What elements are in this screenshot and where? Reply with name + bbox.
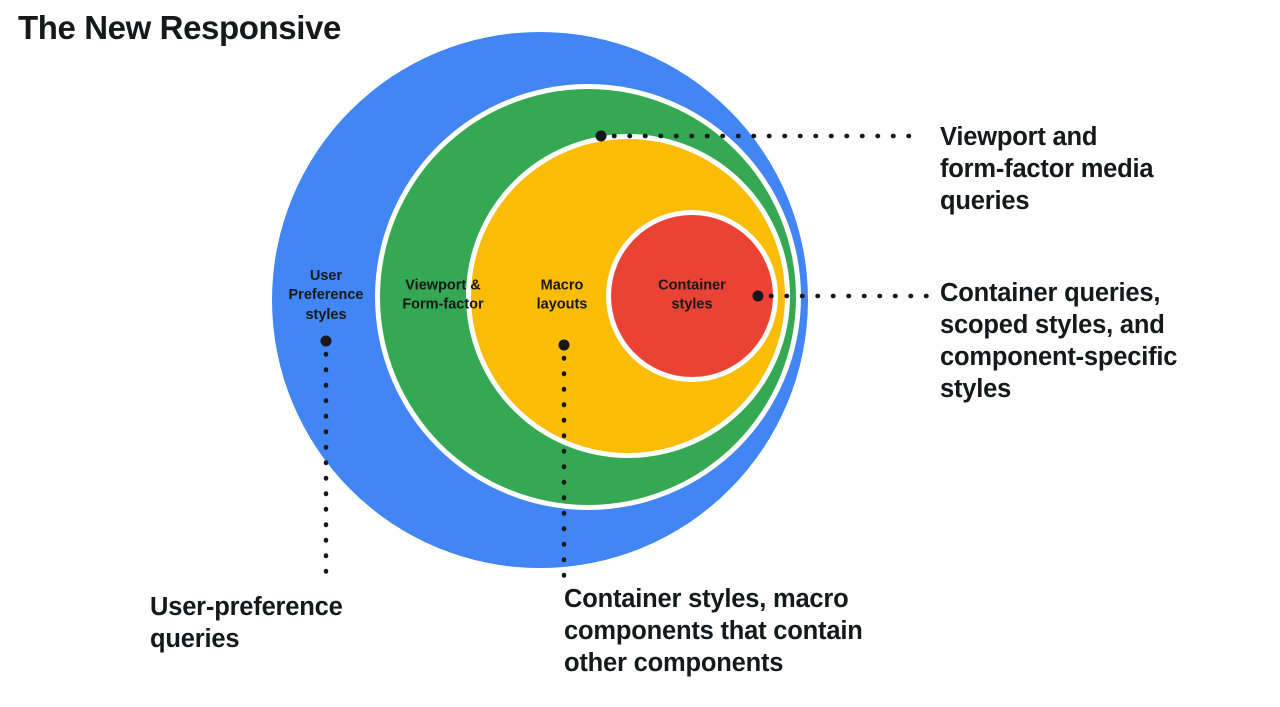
connector-dot-viewport — [596, 131, 607, 142]
connector-dot-macro — [559, 340, 570, 351]
connector-dot-container-queries — [753, 291, 764, 302]
diagram-canvas: The New Responsive User Preference style… — [0, 0, 1280, 707]
ring-container-styles[interactable] — [611, 215, 773, 377]
callout-macro-container-styles: Container styles, macro components that … — [564, 584, 994, 680]
callout-user-preference-queries: User-preference queries — [150, 592, 450, 656]
callout-container-queries: Container queries, scoped styles, and co… — [940, 278, 1270, 406]
callout-viewport-media-queries: Viewport and form-factor media queries — [940, 122, 1265, 218]
connector-dot-user-preference — [321, 336, 332, 347]
